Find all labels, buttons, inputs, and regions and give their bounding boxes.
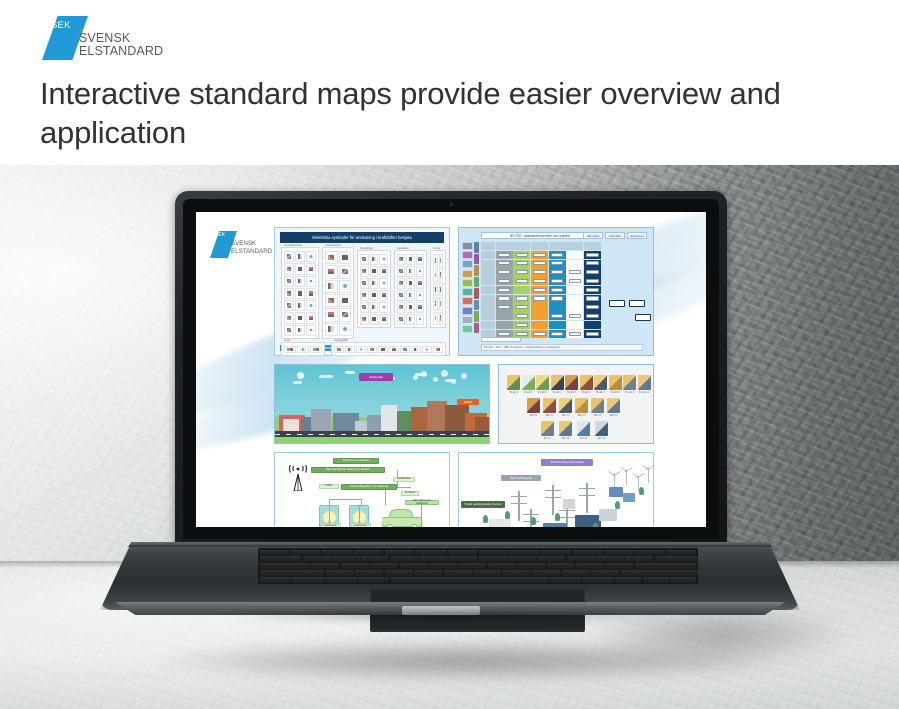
matrix-cell[interactable] xyxy=(584,295,601,303)
matrix-cell-chip[interactable] xyxy=(586,332,598,336)
ev-node-5[interactable]: Kabel xyxy=(319,484,339,489)
ev-node-8[interactable]: Laddstation / laddpunkt DC xyxy=(351,523,371,527)
keyboard-key[interactable] xyxy=(322,550,352,555)
matrix-cell[interactable] xyxy=(531,330,548,338)
matrix-cell[interactable] xyxy=(549,251,566,259)
symbol-cell[interactable] xyxy=(339,251,352,264)
keyboard-key[interactable] xyxy=(582,577,613,583)
keyboard-key[interactable] xyxy=(473,570,501,575)
matrix-cell[interactable] xyxy=(584,260,601,268)
symbol-cell[interactable] xyxy=(370,290,379,301)
symbol-cell[interactable] xyxy=(433,346,443,353)
matrix-cell-chip[interactable] xyxy=(498,253,510,257)
symbol-cell[interactable] xyxy=(306,325,316,336)
symbol-cell[interactable] xyxy=(334,346,344,353)
matrix-cell[interactable] xyxy=(496,260,513,268)
matrix-cell[interactable] xyxy=(531,268,548,276)
keyboard-key[interactable] xyxy=(510,550,540,555)
keyboard-key[interactable] xyxy=(260,570,325,575)
symbol-cell[interactable] xyxy=(416,302,424,313)
matrix-cell-chip[interactable] xyxy=(498,305,510,309)
matrix-cell[interactable] xyxy=(531,303,548,311)
symbol-cell[interactable] xyxy=(379,254,388,265)
symbol-cell[interactable] xyxy=(370,254,379,265)
keyboard-key[interactable] xyxy=(635,550,665,555)
symbol-cell[interactable] xyxy=(339,294,352,307)
symbol-cell[interactable] xyxy=(406,254,414,265)
symbol-cell[interactable] xyxy=(295,276,305,287)
keyboard-key[interactable] xyxy=(358,577,389,583)
matrix-cell-chip[interactable] xyxy=(551,296,563,300)
symbol-cell[interactable] xyxy=(379,278,388,289)
matrix-cell-chip[interactable] xyxy=(551,314,563,318)
matrix-cell-chip[interactable] xyxy=(551,332,563,336)
symbol-cell[interactable] xyxy=(360,314,369,325)
matrix-cell-chip[interactable] xyxy=(498,332,510,336)
symbol-cell[interactable] xyxy=(295,263,305,274)
grid-tag-2[interactable]: SS-EN Laddningsstation hemmet xyxy=(461,501,505,508)
matrix-cell[interactable] xyxy=(566,251,583,259)
symbol-cell[interactable] xyxy=(397,278,405,289)
matrix-button-2[interactable]: Exportera xyxy=(627,232,647,239)
matrix-cell-chip[interactable] xyxy=(533,261,545,265)
matrix-cell[interactable] xyxy=(513,321,530,329)
symbols-strip-toolbar[interactable]: Verktygsfält xyxy=(331,342,446,356)
keyboard-key[interactable] xyxy=(596,556,624,561)
matrix-cell[interactable] xyxy=(531,277,548,285)
symbol-cell[interactable] xyxy=(284,251,294,262)
keyboard-key[interactable] xyxy=(311,563,339,568)
symbol-cell[interactable] xyxy=(295,312,305,323)
symbol-cell[interactable] xyxy=(379,314,388,325)
matrix-cell-chip[interactable] xyxy=(498,279,510,283)
matrix-button-1[interactable]: Visa filter xyxy=(605,232,625,239)
symbol-cell[interactable] xyxy=(370,302,379,313)
keyboard-key[interactable] xyxy=(488,563,516,568)
matrix-detached-node-0[interactable] xyxy=(609,300,625,307)
keyboard-key[interactable] xyxy=(291,550,321,555)
keyboard-key[interactable] xyxy=(391,556,419,561)
matrix-detached-node-1[interactable] xyxy=(629,300,645,307)
symbol-cell[interactable] xyxy=(367,346,377,353)
matrix-cell-chip[interactable] xyxy=(498,261,510,265)
matrix-detached-node-2[interactable] xyxy=(635,314,651,321)
keyboard-key[interactable] xyxy=(625,556,653,561)
device-icon-0-5[interactable]: SS-EN 6 xyxy=(580,375,593,390)
symbols-strip-selection[interactable]: Urval xyxy=(281,342,325,356)
symbol-group-2[interactable]: Kopplingar xyxy=(357,250,391,328)
matrix-cell[interactable] xyxy=(531,321,548,329)
symbol-cell[interactable] xyxy=(370,314,379,325)
symbol-cell[interactable] xyxy=(433,268,438,281)
matrix-cell-chip[interactable] xyxy=(569,332,581,336)
symbol-cell[interactable] xyxy=(416,278,424,289)
matrix-cell-chip[interactable] xyxy=(569,270,581,274)
keyboard-key[interactable] xyxy=(549,577,580,583)
symbol-cell[interactable] xyxy=(397,290,405,301)
matrix-search-input[interactable] xyxy=(481,337,521,342)
symbol-cell[interactable] xyxy=(378,346,388,353)
symbol-cell[interactable] xyxy=(284,288,294,299)
keyboard-key[interactable] xyxy=(537,556,565,561)
matrix-cell-chip[interactable] xyxy=(551,270,563,274)
ev-node-1[interactable]: SEK Standard för laddning av elfordon xyxy=(311,467,385,473)
keyboard-key[interactable] xyxy=(449,556,477,561)
matrix-cell[interactable] xyxy=(496,277,513,285)
matrix-cell-chip[interactable] xyxy=(586,253,598,257)
network-icon[interactable] xyxy=(462,288,473,296)
device-icon-2-3[interactable]: IEC 20 xyxy=(595,421,608,436)
keyboard-key[interactable] xyxy=(303,556,331,561)
symbol-cell[interactable] xyxy=(439,254,444,267)
matrix-cell[interactable] xyxy=(513,303,530,311)
symbol-cell[interactable] xyxy=(439,312,444,325)
plug-icon[interactable] xyxy=(462,297,473,305)
ev-node-6[interactable]: SEK Mätsystem laddpunkt xyxy=(405,500,439,505)
matrix-cell[interactable] xyxy=(531,286,548,294)
matrix-cell-chip[interactable] xyxy=(533,270,545,274)
device-icon-1-3[interactable]: SEK 14 xyxy=(575,398,588,413)
symbol-cell[interactable] xyxy=(360,254,369,265)
ev-node-4[interactable]: Fordonet xyxy=(401,491,419,496)
symbol-cell[interactable] xyxy=(306,276,316,287)
symbol-cell[interactable] xyxy=(411,346,421,353)
matrix-cell[interactable] xyxy=(531,260,548,268)
symbol-cell[interactable] xyxy=(397,254,405,265)
symbol-cell[interactable] xyxy=(345,346,355,353)
symbol-cell[interactable] xyxy=(306,251,316,262)
symbol-cell[interactable] xyxy=(295,325,305,336)
symbol-cell[interactable] xyxy=(416,314,424,325)
keyboard-key[interactable] xyxy=(326,570,354,575)
panel-device-icons[interactable]: SS-EN 1SS-EN 2SS-EN 3SS-EN 4SS-EN 5SS-EN… xyxy=(498,364,654,444)
keyboard-key[interactable] xyxy=(414,570,442,575)
matrix-cell[interactable] xyxy=(549,295,566,303)
symbol-cell[interactable] xyxy=(325,280,338,293)
matrix-cell[interactable] xyxy=(513,312,530,320)
symbol-cell[interactable] xyxy=(284,263,294,274)
keyboard-key[interactable] xyxy=(591,570,619,575)
symbol-cell[interactable] xyxy=(379,302,388,313)
matrix-cell-chip[interactable] xyxy=(516,314,528,318)
symbol-cell[interactable] xyxy=(295,251,305,262)
keyboard-row-1[interactable] xyxy=(260,556,697,561)
keyboard-key[interactable] xyxy=(341,563,369,568)
symbol-group-3[interactable]: Apparater xyxy=(394,250,427,328)
keyboard-key[interactable] xyxy=(444,570,472,575)
matrix-cell[interactable] xyxy=(549,260,566,268)
symbol-cell[interactable] xyxy=(284,300,294,311)
symbol-cell[interactable] xyxy=(439,268,444,281)
grid-icon[interactable] xyxy=(462,242,473,250)
keyboard-row-3[interactable] xyxy=(260,570,697,575)
keyboard-key[interactable] xyxy=(370,563,398,568)
matrix-cell-chip[interactable] xyxy=(516,296,528,300)
keyboard-key[interactable] xyxy=(260,556,302,561)
symbol-cell[interactable] xyxy=(325,251,338,264)
symbol-cell[interactable] xyxy=(339,308,352,321)
keyboard-key[interactable] xyxy=(532,570,560,575)
matrix-cell-chip[interactable] xyxy=(586,279,598,283)
symbol-cell[interactable] xyxy=(295,288,305,299)
matrix-cell[interactable] xyxy=(566,277,583,285)
keyboard-row-2[interactable] xyxy=(260,563,697,568)
symbol-cell[interactable] xyxy=(284,325,294,336)
keyboard-key[interactable] xyxy=(416,550,446,555)
keyboard-key[interactable] xyxy=(400,563,428,568)
matrix-cell-chip[interactable] xyxy=(586,288,598,292)
symbol-cell[interactable] xyxy=(433,297,438,310)
keyboard-key[interactable] xyxy=(667,550,697,555)
device-icon-0-2[interactable]: SS-EN 3 xyxy=(536,375,549,390)
symbol-cell[interactable] xyxy=(379,290,388,301)
keyboard-key[interactable] xyxy=(479,556,507,561)
symbol-cell[interactable] xyxy=(360,278,369,289)
keyboard-key[interactable] xyxy=(547,563,575,568)
symbol-group-0[interactable]: Grundsymboler xyxy=(281,247,319,339)
symbol-cell[interactable] xyxy=(416,266,424,277)
document-icon[interactable] xyxy=(462,279,473,287)
keyboard-key[interactable] xyxy=(420,556,448,561)
keyboard-key[interactable] xyxy=(325,577,356,583)
matrix-cell-chip[interactable] xyxy=(516,323,528,327)
symbol-cell[interactable] xyxy=(325,323,338,336)
matrix-cell-chip[interactable] xyxy=(551,279,563,283)
device-icon-2-0[interactable]: IEC 17 xyxy=(541,421,554,436)
symbol-group-4[interactable]: Övrigt xyxy=(430,250,446,328)
matrix-cell-chip[interactable] xyxy=(586,261,598,265)
matrix-cell-chip[interactable] xyxy=(516,305,528,309)
keyboard-key[interactable] xyxy=(655,556,697,561)
matrix-cell[interactable] xyxy=(513,251,530,259)
matrix-cell[interactable] xyxy=(513,277,530,285)
matrix-cell-chip[interactable] xyxy=(498,296,510,300)
keyboard-key[interactable] xyxy=(361,556,389,561)
matrix-cell[interactable] xyxy=(584,251,601,259)
keyboard-key[interactable] xyxy=(541,550,571,555)
symbol-cell[interactable] xyxy=(406,290,414,301)
grid-tag-0[interactable]: SS-EN Distribuerad produktion xyxy=(541,459,593,466)
keyboard-key[interactable] xyxy=(635,563,697,568)
matrix-cell-chip[interactable] xyxy=(569,314,581,318)
keyboard-key[interactable] xyxy=(562,570,590,575)
matrix-cell[interactable] xyxy=(496,286,513,294)
symbol-cell[interactable] xyxy=(416,290,424,301)
keyboard-key[interactable] xyxy=(621,570,697,575)
device-icon-2-1[interactable]: IEC 18 xyxy=(559,421,572,436)
matrix-cell[interactable] xyxy=(496,312,513,320)
matrix-cell[interactable] xyxy=(566,321,583,329)
symbol-cell[interactable] xyxy=(433,312,438,325)
matrix-cell[interactable] xyxy=(549,286,566,294)
symbol-cell[interactable] xyxy=(284,276,294,287)
panel-standards-matrix[interactable]: IEC/SS - standardkarta eller och system … xyxy=(458,227,654,356)
matrix-cell[interactable] xyxy=(584,268,601,276)
matrix-sidebar-icons[interactable] xyxy=(462,242,473,333)
panel-power-grid[interactable]: SS-EN Distribuerad produktionSEK Överför… xyxy=(458,452,654,527)
factory-icon[interactable] xyxy=(462,251,473,259)
matrix-cell[interactable] xyxy=(584,286,601,294)
panel-city-illustration[interactable]: Stadsmiljö Industri xyxy=(274,364,490,444)
matrix-cell[interactable] xyxy=(584,312,601,320)
device-icon-0-0[interactable]: SS-EN 1 xyxy=(507,375,520,390)
symbol-cell[interactable] xyxy=(397,314,405,325)
device-icon-1-1[interactable]: SEK 12 xyxy=(543,398,556,413)
symbol-cell[interactable] xyxy=(360,290,369,301)
symbol-cell[interactable] xyxy=(325,294,338,307)
keyboard-key[interactable] xyxy=(353,550,383,555)
symbol-cell[interactable] xyxy=(360,302,369,313)
matrix-cell-chip[interactable] xyxy=(586,270,598,274)
panel-symbols-map[interactable]: Elektriska symboler för anslutning i kra… xyxy=(274,227,450,356)
device-icon-0-7[interactable]: SS-EN 8 xyxy=(609,375,622,390)
battery-icon[interactable] xyxy=(462,316,473,324)
matrix-cell[interactable] xyxy=(513,260,530,268)
matrix-cell[interactable] xyxy=(549,268,566,276)
keyboard-key[interactable] xyxy=(260,577,291,583)
symbol-cell[interactable] xyxy=(306,312,316,323)
keyboard-key[interactable] xyxy=(458,563,486,568)
symbol-cell[interactable] xyxy=(433,254,438,267)
matrix-cell[interactable] xyxy=(566,303,583,311)
keyboard-key[interactable] xyxy=(605,563,633,568)
matrix-cell[interactable] xyxy=(496,321,513,329)
keyboard-key[interactable] xyxy=(604,550,634,555)
laptop-screen[interactable]: SEK SVENSK ELSTANDARD Elektriska symbole… xyxy=(196,212,706,527)
symbol-cell[interactable] xyxy=(370,278,379,289)
matrix-cell-chip[interactable] xyxy=(569,279,581,283)
keyboard-key[interactable] xyxy=(567,556,595,561)
keyboard-key[interactable] xyxy=(385,550,415,555)
symbol-cell[interactable] xyxy=(406,314,414,325)
device-icon-0-6[interactable]: SS-EN 7 xyxy=(594,375,607,390)
keyboard-key[interactable] xyxy=(355,570,383,575)
matrix-cell[interactable] xyxy=(584,277,601,285)
matrix-cell[interactable] xyxy=(496,268,513,276)
matrix-cell-chip[interactable] xyxy=(516,253,528,257)
symbol-cell[interactable] xyxy=(379,266,388,277)
matrix-cell[interactable] xyxy=(549,330,566,338)
device-icon-1-2[interactable]: SEK 13 xyxy=(559,398,572,413)
matrix-cell-chip[interactable] xyxy=(586,305,598,309)
device-icon-0-4[interactable]: SS-EN 5 xyxy=(565,375,578,390)
device-icon-1-4[interactable]: SEK 15 xyxy=(591,398,604,413)
matrix-cell[interactable] xyxy=(531,295,548,303)
grid-tag-1[interactable]: SEK Överföringsnät xyxy=(501,475,541,481)
matrix-cell[interactable] xyxy=(496,251,513,259)
keyboard[interactable] xyxy=(258,548,698,584)
symbol-cell[interactable] xyxy=(433,283,438,296)
matrix-cell[interactable] xyxy=(496,303,513,311)
matrix-cell[interactable] xyxy=(531,312,548,320)
matrix-cell-chip[interactable] xyxy=(516,261,528,265)
city-tag-primary[interactable]: Stadsmiljö xyxy=(359,373,393,381)
keyboard-key[interactable] xyxy=(573,550,603,555)
keyboard-key[interactable] xyxy=(292,577,323,583)
symbol-cell[interactable] xyxy=(422,346,432,353)
matrix-cell[interactable] xyxy=(549,303,566,311)
panel-ev-charging[interactable]: SS-EN KommunikationSEK Standard för ladd… xyxy=(274,452,450,527)
keyboard-key[interactable] xyxy=(429,563,457,568)
matrix-cell[interactable] xyxy=(513,286,530,294)
matrix-cell-chip[interactable] xyxy=(498,288,510,292)
matrix-cell[interactable] xyxy=(584,321,601,329)
city-tag-secondary[interactable]: Industri xyxy=(457,399,479,405)
matrix-cell-chip[interactable] xyxy=(586,296,598,300)
symbol-cell[interactable] xyxy=(325,308,338,321)
symbol-cell[interactable] xyxy=(339,280,352,293)
keyboard-key[interactable] xyxy=(517,563,545,568)
keyboard-key[interactable] xyxy=(391,577,548,583)
matrix-cell-chip[interactable] xyxy=(533,253,545,257)
matrix-cell[interactable] xyxy=(531,251,548,259)
matrix-cell-chip[interactable] xyxy=(551,261,563,265)
symbol-cell[interactable] xyxy=(397,302,405,313)
ev-node-2[interactable]: SS-EN Mätsystem och avräkning xyxy=(341,484,397,490)
device-icon-0-3[interactable]: SS-EN 4 xyxy=(551,375,564,390)
symbol-cell[interactable] xyxy=(400,346,410,353)
matrix-cell[interactable] xyxy=(566,295,583,303)
matrix-grid[interactable] xyxy=(481,242,601,338)
panel-icon[interactable] xyxy=(462,270,473,278)
matrix-cell-chip[interactable] xyxy=(551,288,563,292)
matrix-cell-chip[interactable] xyxy=(586,314,598,318)
ev-node-7[interactable]: Laddstation / laddpunkt AC xyxy=(321,523,341,527)
matrix-cell[interactable] xyxy=(584,330,601,338)
keyboard-key[interactable] xyxy=(385,570,413,575)
matrix-cell[interactable] xyxy=(496,295,513,303)
matrix-cell-chip[interactable] xyxy=(498,270,510,274)
symbol-group-1[interactable]: Komponenter xyxy=(322,247,354,339)
symbol-cell[interactable] xyxy=(325,265,338,278)
keyboard-key[interactable] xyxy=(332,556,360,561)
keyboard-key[interactable] xyxy=(670,577,696,583)
device-icon-0-9[interactable]: SS-EN 10 xyxy=(638,375,651,390)
matrix-cell[interactable] xyxy=(566,260,583,268)
matrix-cell-chip[interactable] xyxy=(516,279,528,283)
symbol-cell[interactable] xyxy=(439,297,444,310)
symbol-cell[interactable] xyxy=(439,283,444,296)
settings-icon[interactable] xyxy=(462,307,473,315)
keyboard-key[interactable] xyxy=(615,577,641,583)
keyboard-key[interactable] xyxy=(260,563,310,568)
symbol-cell[interactable] xyxy=(389,346,399,353)
ev-node-3[interactable]: Laddstation xyxy=(393,477,415,482)
symbol-cell[interactable] xyxy=(297,346,309,353)
symbol-cell[interactable] xyxy=(339,265,352,278)
symbol-cell[interactable] xyxy=(306,300,316,311)
symbol-cell[interactable] xyxy=(370,266,379,277)
symbol-cell[interactable] xyxy=(360,266,369,277)
keyboard-key[interactable] xyxy=(447,550,477,555)
symbol-cell[interactable] xyxy=(284,346,296,353)
keyboard-key[interactable] xyxy=(260,550,290,555)
keyboard-key[interactable] xyxy=(508,556,536,561)
device-icon-0-1[interactable]: SS-EN 2 xyxy=(522,375,535,390)
matrix-cell[interactable] xyxy=(566,286,583,294)
symbol-cell[interactable] xyxy=(284,312,294,323)
clock-icon[interactable] xyxy=(462,325,473,333)
keyboard-row-0[interactable] xyxy=(260,550,697,555)
matrix-cell[interactable] xyxy=(549,277,566,285)
matrix-cell-chip[interactable] xyxy=(533,279,545,283)
symbol-cell[interactable] xyxy=(397,266,405,277)
matrix-cell-chip[interactable] xyxy=(551,253,563,257)
matrix-cell-chip[interactable] xyxy=(533,332,545,336)
keyboard-key[interactable] xyxy=(503,570,531,575)
symbol-cell[interactable] xyxy=(310,346,322,353)
matrix-cell[interactable] xyxy=(513,295,530,303)
